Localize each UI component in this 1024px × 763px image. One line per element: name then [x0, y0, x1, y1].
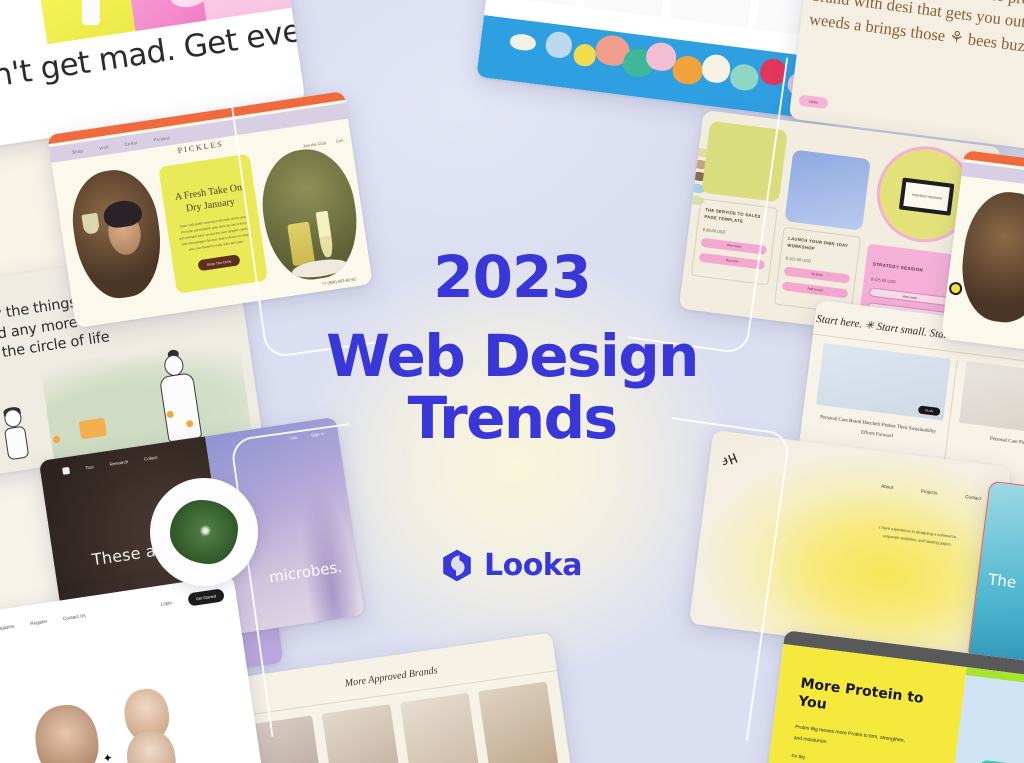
microbes-nav-collect[interactable]: Collect [144, 455, 158, 462]
protein-body: Protini Big means more Protini to firm, … [793, 722, 913, 758]
pickles-cart[interactable]: Cart [335, 138, 343, 144]
influencer-nav-magazine[interactable]: Magazine [0, 624, 15, 632]
mad-swatch-white [0, 0, 47, 57]
wine-glass [81, 213, 100, 235]
pickles-nav-pickled[interactable]: Pickled [153, 135, 170, 142]
influencer-marketing-card[interactable]: Home How it works Pricing Magazine Regis… [0, 575, 267, 763]
influencer-nav-register[interactable]: Register [30, 619, 48, 626]
laptop-screen-label: STRATEGY SESSION [903, 182, 950, 211]
pickles-nav-cellar[interactable]: Cellar [124, 139, 138, 146]
page-title-line-1: Web Design [0, 325, 1024, 387]
hero-text-block: 2023 Web Design Trends [0, 248, 1024, 449]
pickles-mini-nav[interactable]: Join the Club Cart [302, 138, 343, 149]
influencer-nav-contact[interactable]: Contact Us [63, 613, 86, 621]
laptop-icon: STRATEGY SESSION [899, 177, 955, 215]
nav-spacer [101, 607, 145, 614]
pickles-nav-shop[interactable]: Shop [72, 148, 84, 155]
protein-heading: More Protein to You [797, 674, 941, 728]
product-cell[interactable] [669, 0, 762, 28]
pickles-join-club[interactable]: Join the Club [302, 140, 326, 148]
copy-chip-hello[interactable]: Hello [798, 95, 828, 110]
sparkle-icon: ✦ [102, 751, 114, 763]
pickles-heading: A Fresh Take On Dry January [172, 181, 247, 217]
victoria-portfolio-card[interactable]: About Projects Contact Hello! My name is… [689, 430, 1011, 661]
looka-wordmark: Looka [484, 548, 582, 583]
course-title: THE SERVICE TO SALES PAGE TEMPLATE [704, 206, 771, 228]
copy-card-body: We help you go from service provider ✳ t… [808, 0, 1024, 66]
page-title-year: 2023 [0, 248, 1024, 307]
brand-thumb[interactable] [322, 704, 403, 763]
page-title-line-2: Trends [0, 387, 1024, 449]
microbes-logo-icon [62, 467, 70, 475]
avatar [31, 701, 103, 763]
product-cell[interactable] [583, 0, 676, 17]
looka-hexagon-logo-icon [442, 549, 472, 582]
course-artwork [701, 121, 787, 202]
page-title: Web Design Trends [0, 325, 1024, 449]
course-artwork [784, 150, 870, 231]
product-bottle [82, 0, 101, 25]
mad-swatch-yellow [36, 0, 135, 44]
influencer-body: Generate professional-looking brand with… [0, 707, 2, 738]
brand-thumb[interactable] [400, 693, 481, 763]
brand-thumb[interactable] [478, 682, 559, 763]
poster-canvas: on't get mad. Get eve e sign and Shop Vi… [0, 0, 1024, 763]
product-cell[interactable] [496, 0, 589, 6]
microbes-nav-tour[interactable]: Tour [85, 464, 94, 470]
course-price: $ 89.00 USD [702, 227, 768, 240]
looka-logo[interactable]: Looka [0, 548, 1024, 583]
influencer-get-started-button[interactable]: Get Started [187, 588, 225, 606]
pickles-nav-visit[interactable]: Visit [99, 144, 109, 150]
influencer-login[interactable]: Login [161, 600, 173, 607]
